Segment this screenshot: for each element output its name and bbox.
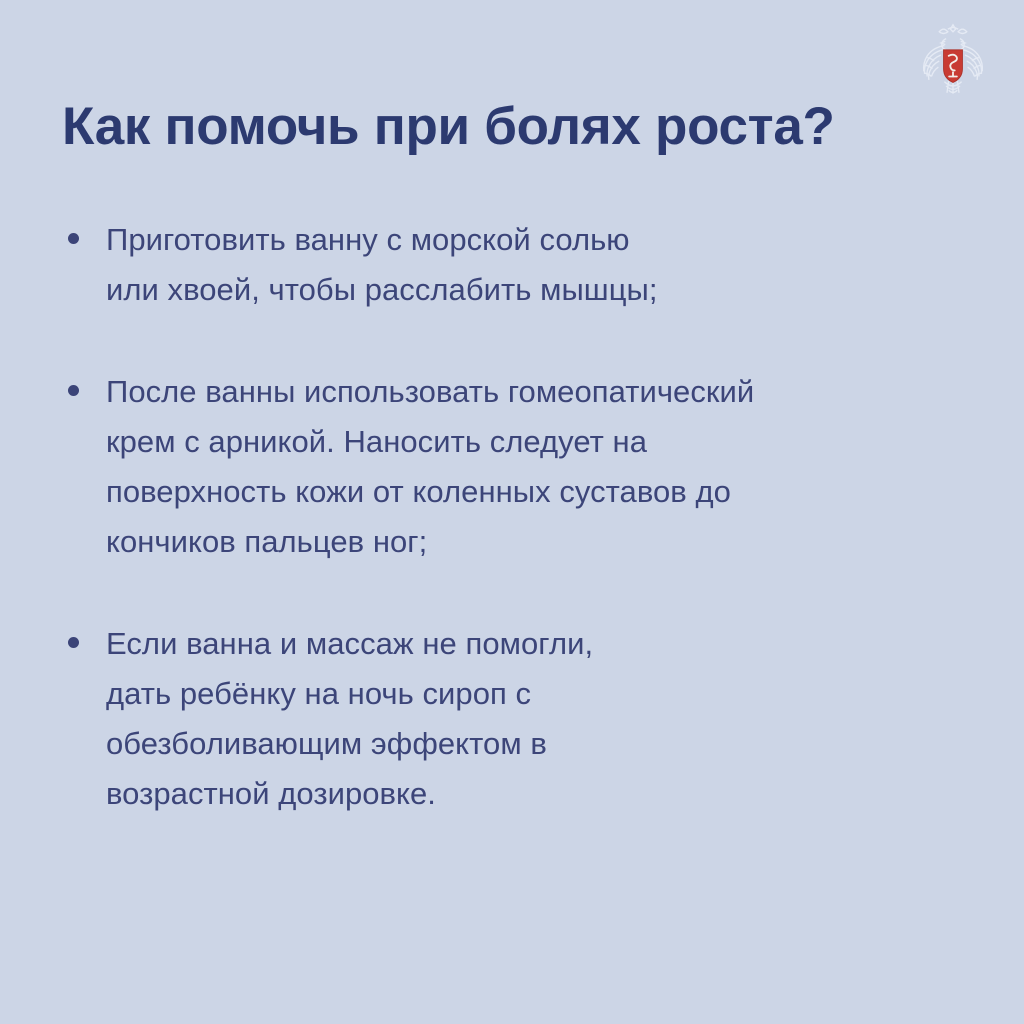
- list-item-text: Приготовить ванну с морской солью или хв…: [106, 215, 962, 315]
- text-line: или хвоей, чтобы расслабить мышцы;: [106, 265, 962, 315]
- text-line: возрастной дозировке.: [106, 769, 962, 819]
- text-line: обезболивающим эффектом в: [106, 719, 962, 769]
- roszdravnadzor-eagle-emblem: [910, 18, 996, 104]
- text-line: поверхность кожи от коленных суставов до: [106, 467, 962, 517]
- list-item-text: Если ванна и массаж не помогли, дать реб…: [106, 619, 962, 819]
- text-line: Если ванна и массаж не помогли,: [106, 619, 962, 669]
- list-item: Приготовить ванну с морской солью или хв…: [62, 215, 962, 315]
- text-line: Приготовить ванну с морской солью: [106, 215, 962, 265]
- text-line: После ванны использовать гомеопатический: [106, 367, 962, 417]
- list-item: После ванны использовать гомеопатический…: [62, 367, 962, 567]
- slide-root: Как помочь при болях роста? Приготовить …: [0, 0, 1024, 1024]
- bullet-dot-icon: [68, 385, 79, 396]
- list-item-text: После ванны использовать гомеопатический…: [106, 367, 962, 567]
- text-line: дать ребёнку на ночь сироп с: [106, 669, 962, 719]
- page-title: Как помочь при болях роста?: [62, 97, 962, 157]
- bullet-dot-icon: [68, 233, 79, 244]
- list-item: Если ванна и массаж не помогли, дать реб…: [62, 619, 962, 819]
- text-line: кончиков пальцев ног;: [106, 517, 962, 567]
- bullet-dot-icon: [68, 637, 79, 648]
- text-line: крем с арникой. Наносить следует на: [106, 417, 962, 467]
- advice-bullet-list: Приготовить ванну с морской солью или хв…: [62, 215, 962, 819]
